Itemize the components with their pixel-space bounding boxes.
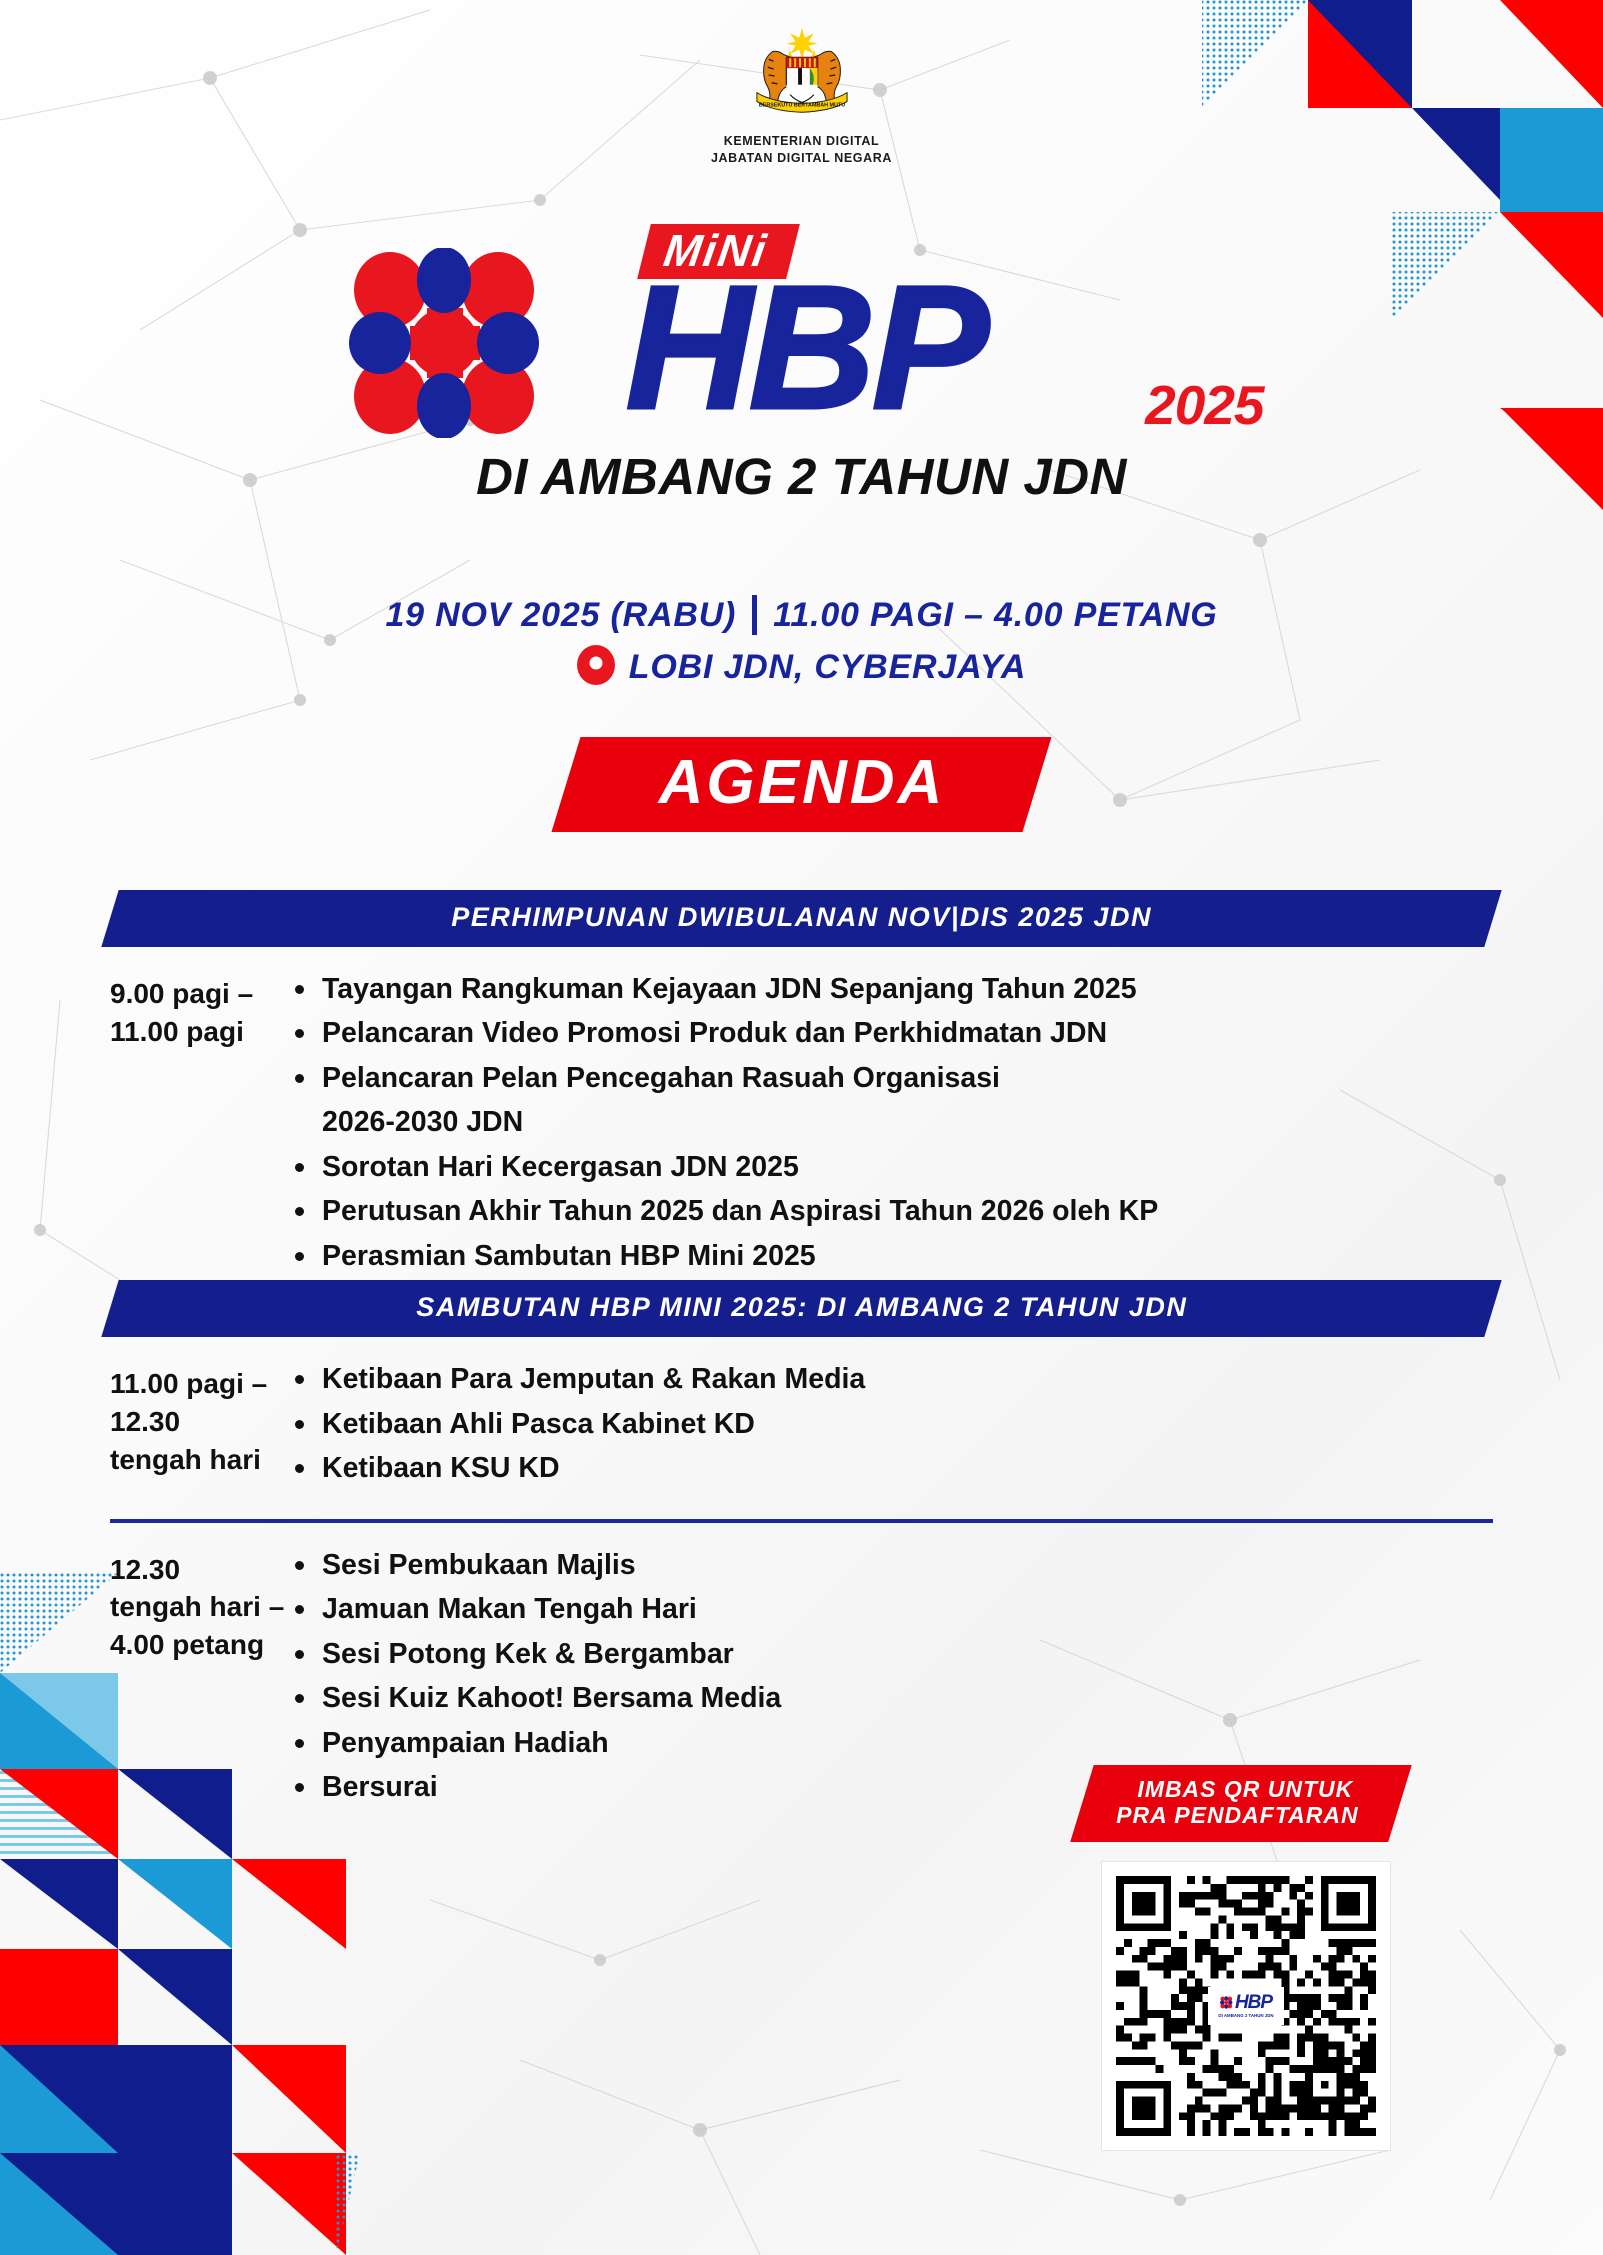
schedule-time-line: 9.00 pagi – [110,975,295,1013]
schedule-item-label: Sesi Potong Kek & Bergambar [322,1634,734,1674]
bullet-icon [295,1464,304,1473]
schedule-time-line: 4.00 petang [110,1626,295,1664]
ministry-line-2: JABATAN DIGITAL NEGARA [0,150,1603,167]
bullet-icon [295,1420,304,1429]
poster-canvas: BERSEKUTU BERTAMBAH MUTU KEMENTERIAN DIG… [0,0,1603,2255]
event-venue: LOBI JDN, CYBERJAYA [629,648,1026,687]
schedule-time-line: 12.30 [110,1551,295,1589]
bullet-icon [295,1783,304,1792]
schedule-time-line: 12.30 [110,1403,295,1441]
schedule-item-label: Sesi Pembukaan Majlis [322,1545,636,1585]
schedule-item: Ketibaan Para Jemputan & Rakan Media [295,1359,1493,1399]
bullet-icon [295,1029,304,1038]
svg-text:BERSEKUTU BERTAMBAH MUTU: BERSEKUTU BERTAMBAH MUTU [758,102,844,108]
event-details: 19 NOV 2025 (RABU) 11.00 PAGI – 4.00 PET… [0,595,1603,690]
schedule-item-label: Tayangan Rangkuman Kejayaan JDN Sepanjan… [322,969,1137,1009]
schedule-item: Perasmian Sambutan HBP Mini 2025 [295,1236,1493,1276]
hbp-wordmark: HBP [626,260,986,436]
schedule-item: Jamuan Makan Tengah Hari [295,1589,1493,1629]
hero-tagline: DI AMBANG 2 TAHUN JDN [0,447,1603,506]
schedule-item-label: Sorotan Hari Kecergasan JDN 2025 [322,1147,799,1187]
bullet-icon [295,1074,304,1083]
qr-registration-area: IMBAS QR UNTUK PRA PENDAFTARAN [1090,1765,1400,2150]
hero-logo: MiNi HBP 2025 DI AMBANG 2 TAHUN JDN [0,238,1603,506]
schedule-item: Tayangan Rangkuman Kejayaan JDN Sepanjan… [295,969,1493,1009]
schedule-time-line: 11.00 pagi – [110,1365,295,1403]
schedule-time: 9.00 pagi –11.00 pagi [110,969,295,1280]
event-venue-row: LOBI JDN, CYBERJAYA [0,645,1603,690]
bullet-icon [295,1694,304,1703]
qr-center-logo: HBP DI AMBANG 2 TAHUN JDN [1208,1987,1284,2025]
ministry-name: KEMENTERIAN DIGITAL JABATAN DIGITAL NEGA… [0,133,1603,166]
schedule-item: Sesi Pembukaan Majlis [295,1545,1493,1585]
section-header-1: PERHIMPUNAN DWIBULANAN NOV|DIS 2025 JDN [0,890,1603,947]
location-pin-icon [577,645,615,690]
schedule-items: Ketibaan Para Jemputan & Rakan MediaKeti… [295,1359,1493,1492]
schedule-item-label: Pelancaran Video Promosi Produk dan Perk… [322,1013,1107,1053]
event-date: 19 NOV 2025 (RABU) [385,596,736,635]
schedule-item-label: 2026-2030 JDN [322,1102,523,1142]
schedule-item-label: Perutusan Akhir Tahun 2025 dan Aspirasi … [322,1191,1158,1231]
schedule-item-label: Perasmian Sambutan HBP Mini 2025 [322,1236,816,1276]
schedule-item-label: Penyampaian Hadiah [322,1723,609,1763]
qr-banner-line-1: IMBAS QR UNTUK [1120,1776,1370,1802]
schedule-item-label: Ketibaan Para Jemputan & Rakan Media [322,1359,865,1399]
event-date-time: 19 NOV 2025 (RABU) 11.00 PAGI – 4.00 PET… [0,595,1603,635]
bullet-icon [295,1739,304,1748]
schedule-time-line: tengah hari [110,1441,295,1479]
agenda-banner: AGENDA [0,737,1603,832]
schedule-block: 9.00 pagi –11.00 pagiTayangan Rangkuman … [0,947,1603,1280]
schedule-time-line: tengah hari – [110,1588,295,1626]
malaysia-coat-of-arms-icon: BERSEKUTU BERTAMBAH MUTU [743,26,861,124]
bullet-icon [295,1252,304,1261]
schedule-item-label: Pelancaran Pelan Pencegahan Rasuah Organ… [322,1058,1000,1098]
qr-logo-flower-icon [1220,1996,1233,2009]
schedule-time: 11.00 pagi –12.30tengah hari [110,1359,295,1492]
bullet-icon [295,1650,304,1659]
bullet-icon [295,985,304,994]
schedule-time: 12.30tengah hari –4.00 petang [110,1545,295,1812]
bullet-icon [295,1163,304,1172]
schedule-item: Pelancaran Pelan Pencegahan Rasuah Organ… [295,1058,1493,1098]
schedule-item-label: Sesi Kuiz Kahoot! Bersama Media [322,1678,781,1718]
section-header-bar: SAMBUTAN HBP MINI 2025: DI AMBANG 2 TAHU… [101,1280,1501,1337]
bullet-icon [295,1207,304,1216]
ministry-line-1: KEMENTERIAN DIGITAL [0,133,1603,150]
bullet-icon [295,1375,304,1384]
schedule-item: Ketibaan Ahli Pasca Kabinet KD [295,1404,1493,1444]
schedule-item-label: Bersurai [322,1767,438,1807]
schedule-item: Penyampaian Hadiah [295,1723,1493,1763]
section-header-label: SAMBUTAN HBP MINI 2025: DI AMBANG 2 TAHU… [416,1292,1187,1323]
qr-code[interactable]: HBP DI AMBANG 2 TAHUN JDN [1102,1862,1390,2150]
schedule-item: Pelancaran Video Promosi Produk dan Perk… [295,1013,1493,1053]
agenda-title: AGENDA [659,747,946,818]
schedule-item-label: Ketibaan KSU KD [322,1448,560,1488]
event-time: 11.00 PAGI – 4.00 PETANG [773,596,1217,635]
qr-logo-subtext: DI AMBANG 2 TAHUN JDN [1218,2013,1273,2018]
schedule-item: Sorotan Hari Kecergasan JDN 2025 [295,1147,1493,1187]
qr-banner-line-2: PRA PENDAFTARAN [1112,1802,1362,1828]
qr-logo-text: HBP [1235,1993,1272,2012]
schedule-item-label: Ketibaan Ahli Pasca Kabinet KD [322,1404,755,1444]
header: BERSEKUTU BERTAMBAH MUTU KEMENTERIAN DIG… [0,26,1603,166]
schedule-time-line: 11.00 pagi [110,1013,295,1051]
schedule-item: Sesi Kuiz Kahoot! Bersama Media [295,1678,1493,1718]
hbp-year: 2025 [1145,378,1263,433]
schedule-items: Tayangan Rangkuman Kejayaan JDN Sepanjan… [295,969,1493,1280]
section-header-bar: PERHIMPUNAN DWIBULANAN NOV|DIS 2025 JDN [101,890,1501,947]
qr-banner: IMBAS QR UNTUK PRA PENDAFTARAN [1070,1765,1412,1842]
schedule-item-label: Jamuan Makan Tengah Hari [322,1589,697,1629]
section-header-label: PERHIMPUNAN DWIBULANAN NOV|DIS 2025 JDN [451,902,1152,933]
section-header-2: SAMBUTAN HBP MINI 2025: DI AMBANG 2 TAHU… [0,1280,1603,1337]
schedule-item: 2026-2030 JDN [295,1102,1493,1142]
schedule-block: 11.00 pagi –12.30tengah hariKetibaan Par… [0,1337,1603,1492]
hbp-flower-logo-icon [348,248,548,438]
agenda-schedule: PERHIMPUNAN DWIBULANAN NOV|DIS 2025 JDN9… [0,890,1603,1812]
bullet-icon [295,1561,304,1570]
schedule-item: Sesi Potong Kek & Bergambar [295,1634,1493,1674]
detail-separator [752,595,757,635]
schedule-item: Perutusan Akhir Tahun 2025 dan Aspirasi … [295,1191,1493,1231]
schedule-item: Ketibaan KSU KD [295,1448,1493,1488]
bullet-icon [295,1605,304,1614]
